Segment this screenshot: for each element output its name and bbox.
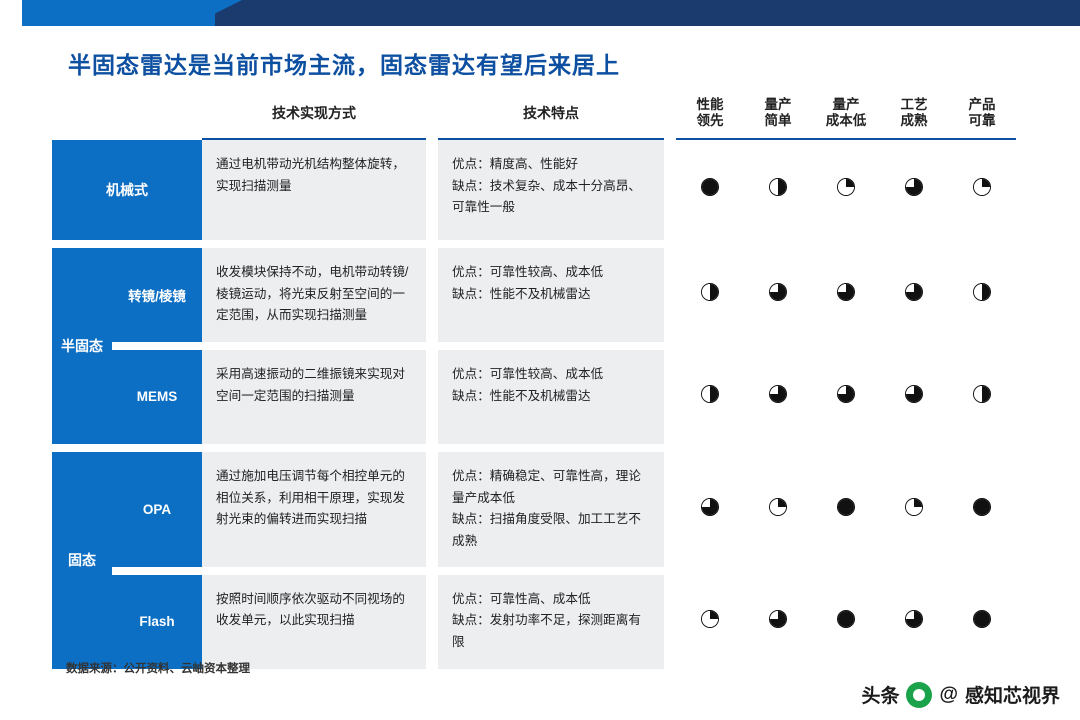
- subcategory-cell-2: MEMS: [112, 350, 202, 444]
- category-cell-mechanical: 机械式: [52, 140, 202, 240]
- score-cell-2-3: [880, 350, 948, 444]
- table-row: 固态OPA通过施加电压调节每个相控单元的相位关系，利用相干原理，实现发射光束的偏…: [52, 452, 1016, 567]
- row-spacer-a-2: [426, 350, 438, 444]
- blue-bar-slant: [190, 0, 242, 26]
- row-spacer-b-0: [664, 140, 676, 240]
- score-cell-2-1: [744, 350, 812, 444]
- method-cell-4: 按照时间顺序依次驱动不同视场的收发单元，以此实现扫描: [202, 575, 426, 669]
- harvey-ball-icon: [973, 610, 991, 628]
- header-metric-4: 产品可靠: [948, 96, 1016, 140]
- score-cell-4-3: [880, 575, 948, 669]
- category-cell-solid: 固态: [52, 452, 112, 669]
- header-metric-0: 性能领先: [676, 96, 744, 140]
- harvey-ball-icon: [837, 283, 855, 301]
- score-cell-1-1: [744, 248, 812, 342]
- header-metric-3: 工艺成熟: [880, 96, 948, 140]
- method-cell-0: 通过电机带动光机结构整体旋转，实现扫描测量: [202, 140, 426, 240]
- header-spacer-2: [664, 96, 676, 140]
- subcategory-cell-1: 转镜/棱镜: [112, 248, 202, 342]
- blue-bar: [0, 0, 215, 26]
- score-cell-3-1: [744, 452, 812, 567]
- harvey-ball-icon: [701, 283, 719, 301]
- row-spacer-a-3: [426, 452, 438, 567]
- table-row: Flash按照时间顺序依次驱动不同视场的收发单元，以此实现扫描优点：可靠性高、成…: [52, 575, 1016, 669]
- table-row: 机械式通过电机带动光机结构整体旋转，实现扫描测量优点：精度高、性能好缺点：技术复…: [52, 140, 1016, 240]
- white-left-notch: [0, 0, 22, 26]
- score-cell-2-4: [948, 350, 1016, 444]
- header-spacer-1: [426, 96, 438, 140]
- harvey-ball-icon: [701, 385, 719, 403]
- feature-cell-2: 优点：可靠性较高、成本低缺点：性能不及机械雷达: [438, 350, 664, 444]
- score-cell-4-4: [948, 575, 1016, 669]
- comparison-table: 技术实现方式 技术特点 性能领先 量产简单 量产成本低 工艺成熟 产品可靠 机械…: [52, 96, 1016, 669]
- harvey-ball-icon: [973, 283, 991, 301]
- row-spacer-a-1: [426, 248, 438, 342]
- harvey-ball-icon: [905, 283, 923, 301]
- score-cell-4-0: [676, 575, 744, 669]
- score-cell-3-4: [948, 452, 1016, 567]
- category-cell-semi-solid: 半固态: [52, 248, 112, 444]
- score-cell-3-3: [880, 452, 948, 567]
- harvey-ball-icon: [769, 498, 787, 516]
- table-header-row: 技术实现方式 技术特点 性能领先 量产简单 量产成本低 工艺成熟 产品可靠: [52, 96, 1016, 140]
- feature-cell-4: 优点：可靠性高、成本低缺点：发射功率不足，探测距离有限: [438, 575, 664, 669]
- harvey-ball-icon: [837, 610, 855, 628]
- harvey-ball-icon: [769, 283, 787, 301]
- score-cell-1-3: [880, 248, 948, 342]
- source-note: 数据来源：公开资料、云岫资本整理: [66, 660, 250, 676]
- header-tech-method: 技术实现方式: [202, 96, 426, 140]
- watermark-separator: @: [939, 684, 958, 706]
- table-row: 半固态转镜/棱镜收发模块保持不动，电机带动转镜/棱镜运动，将光束反射至空间的一定…: [52, 248, 1016, 342]
- harvey-ball-icon: [701, 498, 719, 516]
- comparison-table-wrapper: 技术实现方式 技术特点 性能领先 量产简单 量产成本低 工艺成熟 产品可靠 机械…: [52, 96, 1042, 669]
- row-spacer-a-4: [426, 575, 438, 669]
- row-spacer-b-3: [664, 452, 676, 567]
- score-cell-4-1: [744, 575, 812, 669]
- header-metric-2: 量产成本低: [812, 96, 880, 140]
- row-spacer-b-2: [664, 350, 676, 444]
- harvey-ball-icon: [701, 610, 719, 628]
- score-cell-4-2: [812, 575, 880, 669]
- harvey-ball-icon: [905, 610, 923, 628]
- harvey-ball-icon: [905, 498, 923, 516]
- score-cell-1-4: [948, 248, 1016, 342]
- harvey-ball-icon: [837, 498, 855, 516]
- header-empty-subcategory: [112, 96, 202, 140]
- score-cell-2-2: [812, 350, 880, 444]
- method-cell-2: 采用高速振动的二维振镜来实现对空间一定范围的扫描测量: [202, 350, 426, 444]
- row-gap: [52, 240, 1016, 248]
- harvey-ball-icon: [973, 385, 991, 403]
- harvey-ball-icon: [973, 498, 991, 516]
- harvey-ball-icon: [905, 385, 923, 403]
- score-cell-0-2: [812, 140, 880, 240]
- method-cell-1: 收发模块保持不动，电机带动转镜/棱镜运动，将光束反射至空间的一定范围，从而实现扫…: [202, 248, 426, 342]
- score-cell-1-0: [676, 248, 744, 342]
- harvey-ball-icon: [769, 610, 787, 628]
- score-cell-0-3: [880, 140, 948, 240]
- page-title: 半固态雷达是当前市场主流，固态雷达有望后来居上: [68, 46, 620, 80]
- watermark-prefix: 头条: [861, 681, 899, 708]
- method-cell-3: 通过施加电压调节每个相控单元的相位关系，利用相干原理，实现发射光束的偏转进而实现…: [202, 452, 426, 567]
- harvey-ball-icon: [837, 178, 855, 196]
- score-cell-1-2: [812, 248, 880, 342]
- row-gap: [52, 342, 1016, 350]
- row-gap: [52, 567, 1016, 575]
- score-cell-0-1: [744, 140, 812, 240]
- harvey-ball-icon: [973, 178, 991, 196]
- watermark-account: 感知芯视界: [965, 681, 1060, 708]
- feature-cell-0: 优点：精度高、性能好缺点：技术复杂、成本十分高昂、可靠性一般: [438, 140, 664, 240]
- watermark-logo-icon: [906, 682, 932, 708]
- row-spacer-b-4: [664, 575, 676, 669]
- score-cell-0-4: [948, 140, 1016, 240]
- row-spacer-a-0: [426, 140, 438, 240]
- feature-cell-3: 优点：精确稳定、可靠性高，理论量产成本低缺点：扫描角度受限、加工工艺不成熟: [438, 452, 664, 567]
- harvey-ball-icon: [769, 178, 787, 196]
- header-metric-1: 量产简单: [744, 96, 812, 140]
- harvey-ball-icon: [837, 385, 855, 403]
- subcategory-cell-3: OPA: [112, 452, 202, 567]
- score-cell-3-2: [812, 452, 880, 567]
- top-decoration-bar: [0, 0, 1080, 26]
- header-empty-category: [52, 96, 112, 140]
- score-cell-3-0: [676, 452, 744, 567]
- harvey-ball-icon: [905, 178, 923, 196]
- score-cell-2-0: [676, 350, 744, 444]
- table-body: 机械式通过电机带动光机结构整体旋转，实现扫描测量优点：精度高、性能好缺点：技术复…: [52, 140, 1016, 669]
- watermark: 头条 @ 感知芯视界: [861, 681, 1060, 708]
- subcategory-cell-4: Flash: [112, 575, 202, 669]
- row-spacer-b-1: [664, 248, 676, 342]
- score-cell-0-0: [676, 140, 744, 240]
- table-row: MEMS采用高速振动的二维振镜来实现对空间一定范围的扫描测量优点：可靠性较高、成…: [52, 350, 1016, 444]
- harvey-ball-icon: [769, 385, 787, 403]
- harvey-ball-icon: [701, 178, 719, 196]
- feature-cell-1: 优点：可靠性较高、成本低缺点：性能不及机械雷达: [438, 248, 664, 342]
- header-tech-feature: 技术特点: [438, 96, 664, 140]
- row-gap: [52, 444, 1016, 452]
